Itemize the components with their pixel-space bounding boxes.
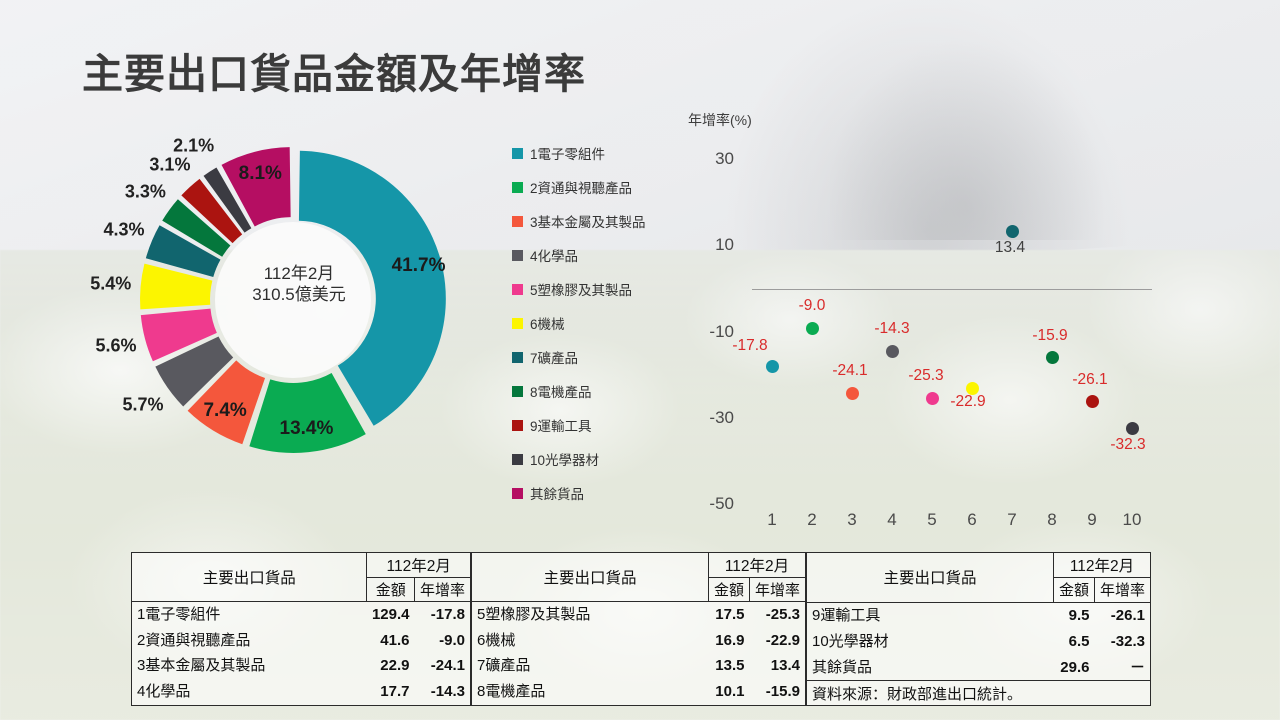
scatter-point-value-label: 13.4: [995, 239, 1025, 257]
table-cell-goods-name: 8電機產品: [472, 679, 709, 705]
legend-item[interactable]: 6機械: [512, 306, 692, 340]
page-title: 主要出口貨品金額及年增率: [82, 40, 586, 100]
legend-color-swatch: [512, 250, 523, 261]
table-header-goods: 主要出口貨品: [132, 553, 367, 602]
table-header-goods: 主要出口貨品: [472, 553, 709, 602]
scatter-y-axis-title: 年增率(%): [688, 110, 752, 130]
legend-color-swatch: [512, 216, 523, 227]
legend-item[interactable]: 其餘貨品: [512, 476, 692, 510]
table-header-period: 112年2月: [367, 553, 471, 578]
scatter-y-tick: -50: [694, 494, 734, 514]
table-cell-goods-name: 3基本金屬及其製品: [132, 653, 367, 679]
export-goods-table: 主要出口貨品112年2月金額年增率1電子零組件129.4-17.82資通與視聽產…: [131, 552, 1151, 706]
table-cell-growth: -9.0: [414, 628, 470, 654]
table-cell-goods-name: 2資通與視聽產品: [132, 628, 367, 654]
legend-item-label: 9運輸工具: [530, 415, 592, 435]
table-cell-growth: －: [1094, 654, 1150, 680]
scatter-point-value-label: -9.0: [799, 297, 826, 315]
table-cell-goods-name: 6機械: [472, 628, 709, 654]
table-header-growth: 年增率: [1094, 578, 1150, 602]
table-cell-amount: 9.5: [1053, 602, 1094, 628]
table-header-growth: 年增率: [749, 578, 805, 602]
scatter-point: [1126, 422, 1139, 435]
donut-chart: 112年2月 310.5億美元 41.7%13.4%7.4%5.7%5.6%5.…: [78, 108, 498, 508]
legend-item-label: 3基本金屬及其製品: [530, 211, 646, 231]
table-cell-goods-name: 7礦產品: [472, 653, 709, 679]
table-row: 5塑橡膠及其製品17.5-25.3: [472, 602, 806, 628]
donut-slice-percentage: 3.1%: [149, 154, 190, 175]
scatter-x-tick: 9: [1077, 510, 1107, 530]
legend-color-swatch: [512, 148, 523, 159]
table-row: 4化學品17.7-14.3: [132, 679, 471, 705]
scatter-x-tick: 1: [757, 510, 787, 530]
legend-color-swatch: [512, 488, 523, 499]
legend-item[interactable]: 2資通與視聽產品: [512, 170, 692, 204]
chart-legend: 1電子零組件2資通與視聽產品3基本金屬及其製品4化學品5塑橡膠及其製品6機械7礦…: [512, 136, 692, 510]
export-goods-table-block: 主要出口貨品112年2月金額年增率1電子零組件129.4-17.82資通與視聽產…: [131, 552, 471, 706]
donut-slice-percentage: 5.4%: [90, 273, 131, 294]
table-row: 7礦產品13.513.4: [472, 653, 806, 679]
scatter-point-value-label: -32.3: [1110, 436, 1145, 454]
scatter-x-tick: 3: [837, 510, 867, 530]
scatter-x-tick: 10: [1117, 510, 1147, 530]
scatter-point: [846, 387, 859, 400]
donut-center-total: 310.5億美元: [238, 284, 360, 305]
table-row: 2資通與視聽產品41.6-9.0: [132, 628, 471, 654]
scatter-point: [1006, 225, 1019, 238]
table-cell-goods-name: 其餘貨品: [807, 654, 1054, 680]
export-goods-table-block: 主要出口貨品112年2月金額年增率5塑橡膠及其製品17.5-25.36機械16.…: [471, 552, 806, 706]
scatter-y-tick: -10: [694, 322, 734, 342]
donut-slice-percentage: 41.7%: [392, 255, 446, 277]
table-header-period: 112年2月: [1053, 553, 1150, 578]
scatter-y-tick: 10: [694, 235, 734, 255]
table-cell-growth: 13.4: [749, 653, 805, 679]
scatter-zero-line: [752, 289, 1152, 290]
legend-item[interactable]: 7礦產品: [512, 340, 692, 374]
growth-rate-scatter-chart: 年增率(%) 3010-10-30-50 12345678910 -17.8-9…: [688, 110, 1168, 535]
table-cell-amount: 16.9: [708, 628, 749, 654]
table-cell-growth: -25.3: [749, 602, 805, 628]
table-cell-amount: 17.7: [367, 679, 415, 705]
table-row: 9運輸工具9.5-26.1: [807, 602, 1151, 628]
table-cell-amount: 17.5: [708, 602, 749, 628]
table-header-row: 主要出口貨品112年2月: [472, 553, 806, 578]
table-cell-goods-name: 5塑橡膠及其製品: [472, 602, 709, 628]
scatter-point: [926, 392, 939, 405]
table-header-amount: 金額: [367, 578, 415, 602]
scatter-x-tick: 7: [997, 510, 1027, 530]
legend-item[interactable]: 4化學品: [512, 238, 692, 272]
table-cell-growth: -15.9: [749, 679, 805, 705]
table-cell-goods-name: 9運輸工具: [807, 602, 1054, 628]
legend-item-label: 1電子零組件: [530, 143, 605, 163]
donut-slice-percentage: 7.4%: [203, 400, 246, 422]
table-source-note: 資料來源：財政部進出口統計。: [807, 681, 1151, 705]
scatter-point-value-label: -14.3: [874, 320, 909, 338]
donut-slice: [249, 373, 365, 453]
legend-color-swatch: [512, 420, 523, 431]
scatter-x-tick: 6: [957, 510, 987, 530]
legend-item[interactable]: 10光學器材: [512, 442, 692, 476]
legend-item[interactable]: 9運輸工具: [512, 408, 692, 442]
table-cell-growth: -17.8: [414, 602, 470, 628]
table-source-row: 資料來源：財政部進出口統計。: [807, 681, 1151, 705]
scatter-point: [766, 360, 779, 373]
donut-center-period: 112年2月: [238, 263, 360, 284]
scatter-y-tick: 30: [694, 149, 734, 169]
scatter-point-value-label: -17.8: [732, 337, 767, 355]
scatter-x-tick: 8: [1037, 510, 1067, 530]
table-row: 3基本金屬及其製品22.9-24.1: [132, 653, 471, 679]
scatter-point-value-label: -15.9: [1032, 327, 1067, 345]
donut-slice-percentage: 5.6%: [95, 336, 136, 357]
table-cell-goods-name: 4化學品: [132, 679, 367, 705]
table-cell-amount: 13.5: [708, 653, 749, 679]
legend-item-label: 2資通與視聽產品: [530, 177, 632, 197]
donut-slice-percentage: 3.3%: [125, 181, 166, 202]
donut-slice-percentage: 4.3%: [103, 219, 144, 240]
table-cell-goods-name: 10光學器材: [807, 629, 1054, 655]
table-cell-amount: 6.5: [1053, 629, 1094, 655]
legend-item-label: 10光學器材: [530, 449, 599, 469]
table-cell-goods-name: 1電子零組件: [132, 602, 367, 628]
table-cell-amount: 129.4: [367, 602, 415, 628]
scatter-point-value-label: -25.3: [908, 367, 943, 385]
table-cell-growth: -32.3: [1094, 629, 1150, 655]
table-header-amount: 金額: [708, 578, 749, 602]
legend-item[interactable]: 3基本金屬及其製品: [512, 204, 692, 238]
table-row: 10光學器材6.5-32.3: [807, 629, 1151, 655]
scatter-x-tick: 5: [917, 510, 947, 530]
legend-color-swatch: [512, 182, 523, 193]
legend-item-label: 7礦產品: [530, 347, 578, 367]
legend-color-swatch: [512, 284, 523, 295]
table-cell-amount: 29.6: [1053, 654, 1094, 680]
legend-item[interactable]: 1電子零組件: [512, 136, 692, 170]
table-header-goods: 主要出口貨品: [807, 553, 1054, 603]
table-row: 8電機產品10.1-15.9: [472, 679, 806, 705]
scatter-x-tick: 4: [877, 510, 907, 530]
table-row: 1電子零組件129.4-17.8: [132, 602, 471, 628]
scatter-x-tick: 2: [797, 510, 827, 530]
legend-color-swatch: [512, 318, 523, 329]
legend-item-label: 4化學品: [530, 245, 578, 265]
scatter-point: [1046, 351, 1059, 364]
legend-item-label: 6機械: [530, 313, 565, 333]
scatter-point-value-label: -22.9: [950, 393, 985, 411]
scatter-point-value-label: -24.1: [832, 362, 867, 380]
donut-center-label: 112年2月 310.5億美元: [238, 263, 360, 335]
table-row: 其餘貨品29.6－: [807, 654, 1151, 680]
table-cell-growth: -26.1: [1094, 602, 1150, 628]
table-header-growth: 年增率: [414, 578, 470, 602]
table-cell-amount: 22.9: [367, 653, 415, 679]
legend-item-label: 其餘貨品: [530, 483, 584, 503]
table-header-row: 主要出口貨品112年2月: [132, 553, 471, 578]
donut-slice-percentage: 5.7%: [123, 394, 164, 415]
legend-item[interactable]: 8電機產品: [512, 374, 692, 408]
scatter-point: [806, 322, 819, 335]
table-cell-amount: 10.1: [708, 679, 749, 705]
scatter-point-value-label: -26.1: [1072, 371, 1107, 389]
legend-item-label: 5塑橡膠及其製品: [530, 279, 632, 299]
scatter-y-tick: -30: [694, 408, 734, 428]
legend-color-swatch: [512, 352, 523, 363]
legend-item-label: 8電機產品: [530, 381, 592, 401]
table-cell-amount: 41.6: [367, 628, 415, 654]
export-goods-table-block: 主要出口貨品112年2月金額年增率9運輸工具9.5-26.110光學器材6.5-…: [806, 552, 1151, 706]
table-row: 6機械16.9-22.9: [472, 628, 806, 654]
donut-slice-percentage: 8.1%: [239, 163, 282, 185]
legend-color-swatch: [512, 386, 523, 397]
table-cell-growth: -24.1: [414, 653, 470, 679]
table-header-row: 主要出口貨品112年2月: [807, 553, 1151, 578]
legend-item[interactable]: 5塑橡膠及其製品: [512, 272, 692, 306]
donut-slice-percentage: 2.1%: [173, 136, 214, 157]
table-header-period: 112年2月: [708, 553, 805, 578]
scatter-point: [886, 345, 899, 358]
table-header-amount: 金額: [1053, 578, 1094, 602]
legend-color-swatch: [512, 454, 523, 465]
table-cell-growth: -22.9: [749, 628, 805, 654]
donut-slice-percentage: 13.4%: [280, 418, 334, 440]
scatter-point: [1086, 395, 1099, 408]
table-cell-growth: -14.3: [414, 679, 470, 705]
